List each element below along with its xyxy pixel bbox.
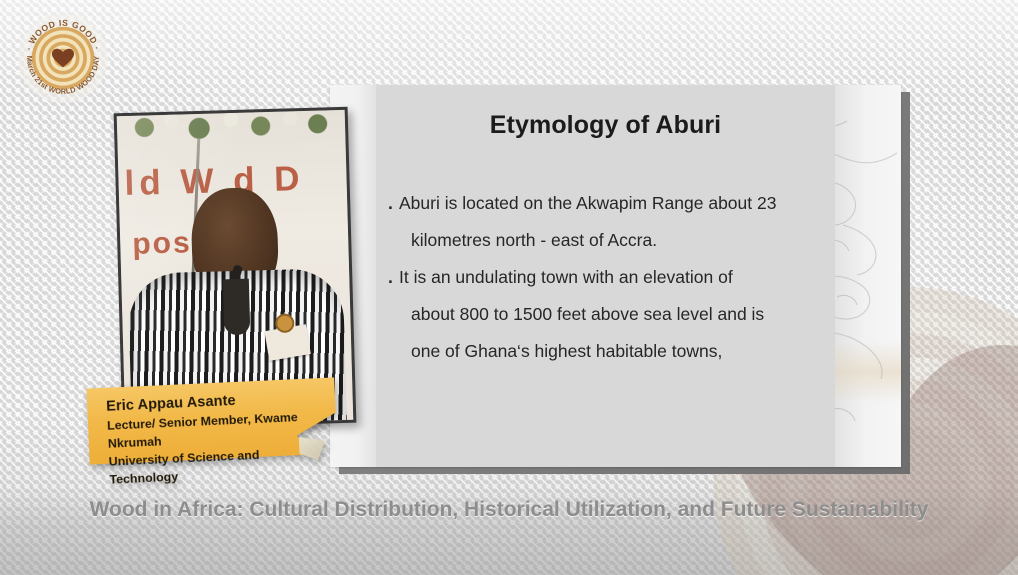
bullet-continuation: kilometres north - east of Accra. bbox=[388, 222, 831, 259]
slide-body: .Aburi is located on the Akwapim Range a… bbox=[388, 185, 831, 370]
world-wood-day-logo: · WOOD IS GOOD · March 21st WORLD WOOD D… bbox=[17, 12, 109, 104]
slide-title: Etymology of Aburi bbox=[376, 111, 835, 140]
presentation-slide: Etymology of Aburi .Aburi is located on … bbox=[330, 85, 901, 467]
photo-foliage-decor bbox=[117, 110, 346, 146]
smock-vneck bbox=[222, 279, 250, 336]
bullet-marker: . bbox=[388, 259, 399, 296]
world-map-outline-icon bbox=[835, 91, 901, 461]
bullet-continuation: one of Ghana‘s highest habitable towns, bbox=[388, 333, 831, 370]
footer-presentation-title: Wood in Africa: Cultural Distribution, H… bbox=[0, 498, 1018, 522]
speaker-name-banner: Eric Appau Asante Lecture/ Senior Member… bbox=[86, 377, 337, 464]
slide-right-strip bbox=[835, 85, 901, 467]
bullet-marker: . bbox=[388, 185, 399, 222]
bullet-text: It is an undulating town with an elevati… bbox=[399, 267, 733, 287]
name-badge-icon bbox=[264, 324, 310, 361]
bullet-item: .Aburi is located on the Akwapim Range a… bbox=[388, 185, 831, 222]
bullet-text: Aburi is located on the Akwapim Range ab… bbox=[399, 193, 776, 213]
presentation-stage: · WOOD IS GOOD · March 21st WORLD WOOD D… bbox=[0, 0, 1018, 575]
bullet-item: .It is an undulating town with an elevat… bbox=[388, 259, 831, 296]
bullet-continuation: about 800 to 1500 feet above sea level a… bbox=[388, 296, 831, 333]
